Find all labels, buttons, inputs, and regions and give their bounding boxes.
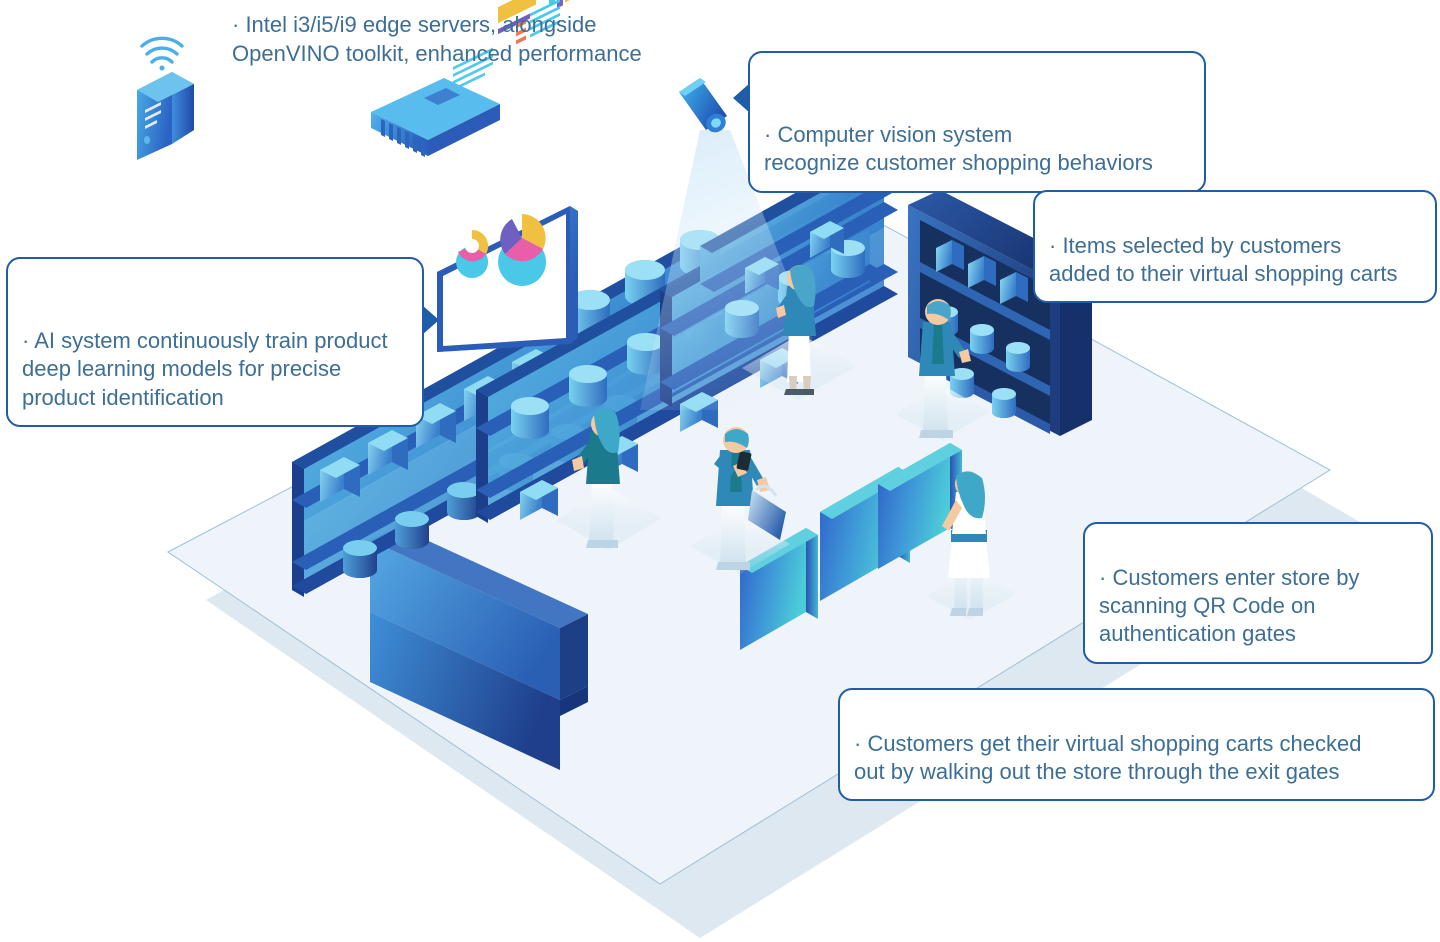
wifi-signal-icon — [142, 38, 182, 70]
callout-tail-left — [733, 83, 750, 113]
callout-ai-system-text: · AI system continuously train product d… — [22, 328, 388, 409]
callout-items-selected: · Items selected by customers added to t… — [1033, 190, 1437, 303]
callout-checkout-exit-text: · Customers get their virtual shopping c… — [854, 731, 1361, 784]
callout-computer-vision-text: · Computer vision system recognize custo… — [764, 122, 1153, 175]
callout-computer-vision: · Computer vision system recognize custo… — [748, 51, 1206, 193]
callout-items-selected-text: · Items selected by customers added to t… — [1049, 233, 1398, 286]
callout-ai-system: · AI system continuously train product d… — [6, 257, 424, 427]
callout-edge-servers: · Intel i3/i5/i9 edge servers, alongside… — [232, 11, 712, 68]
callout-qr-entry: · Customers enter store by scanning QR C… — [1083, 522, 1433, 664]
callout-tail-right — [422, 305, 439, 335]
callout-checkout-exit: · Customers get their virtual shopping c… — [838, 688, 1435, 801]
diagram-canvas: · Intel i3/i5/i9 edge servers, alongside… — [0, 0, 1440, 942]
edge-server-appliance-icon — [371, 78, 500, 157]
server-tower-icon — [137, 72, 194, 160]
callout-qr-entry-text: · Customers enter store by scanning QR C… — [1099, 565, 1359, 646]
security-camera-icon — [679, 78, 729, 136]
